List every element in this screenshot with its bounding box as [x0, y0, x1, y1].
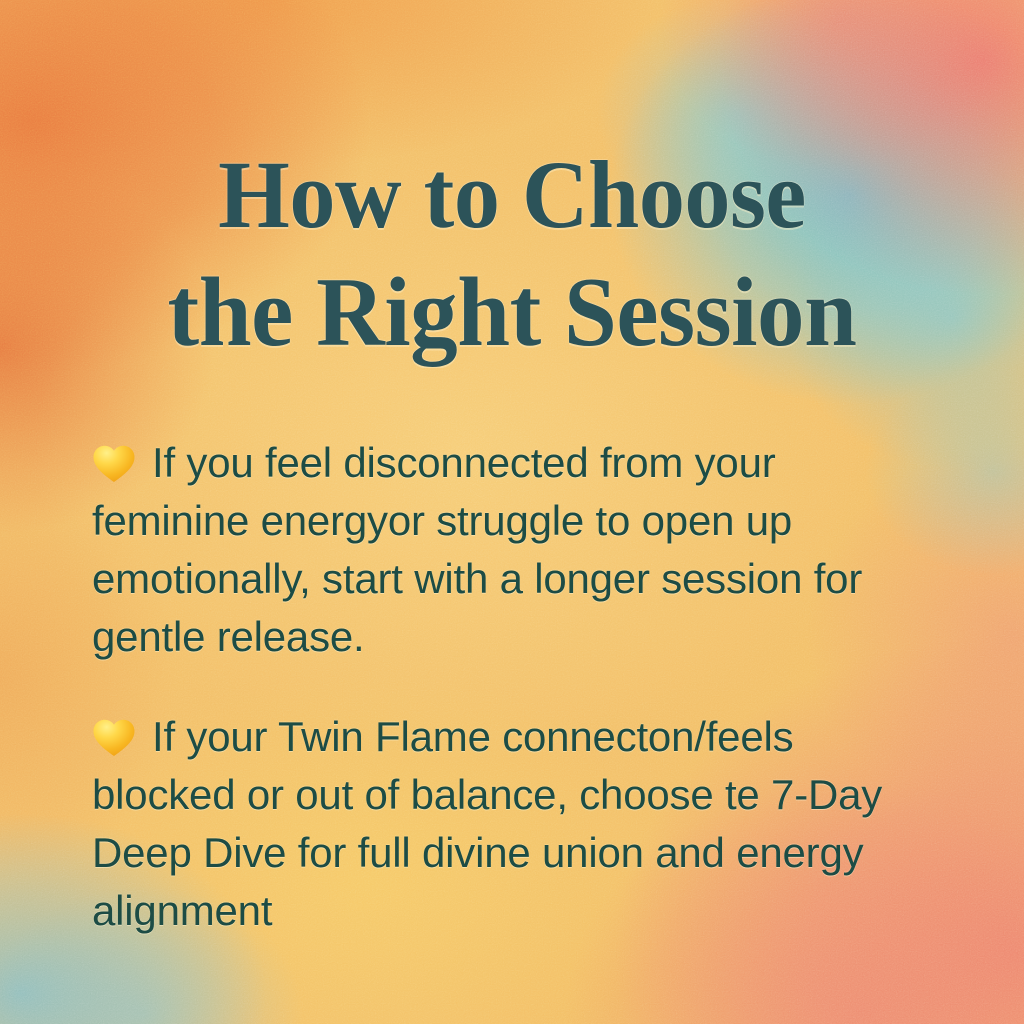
bullet-paragraph-2-text: If your Twin Flame connecton/feels block… [92, 713, 882, 934]
yellow-heart-icon [92, 443, 136, 483]
bullet-paragraph-1-text: If you feel disconnected from your femin… [92, 439, 862, 660]
poster-content: How to Choose the Right Session [0, 0, 1024, 1024]
page-title: How to Choose the Right Session [0, 136, 1024, 372]
title-line-1: How to Choose [20, 136, 1003, 254]
title-line-2: the Right Session [20, 254, 1003, 372]
yellow-heart-icon [92, 717, 136, 757]
poster-canvas: How to Choose the Right Session [0, 0, 1024, 1024]
bullet-paragraph-2: If your Twin Flame connecton/feels block… [92, 708, 922, 940]
bullet-paragraph-1: If you feel disconnected from your femin… [92, 434, 922, 666]
body-copy: If you feel disconnected from your femin… [92, 392, 922, 982]
